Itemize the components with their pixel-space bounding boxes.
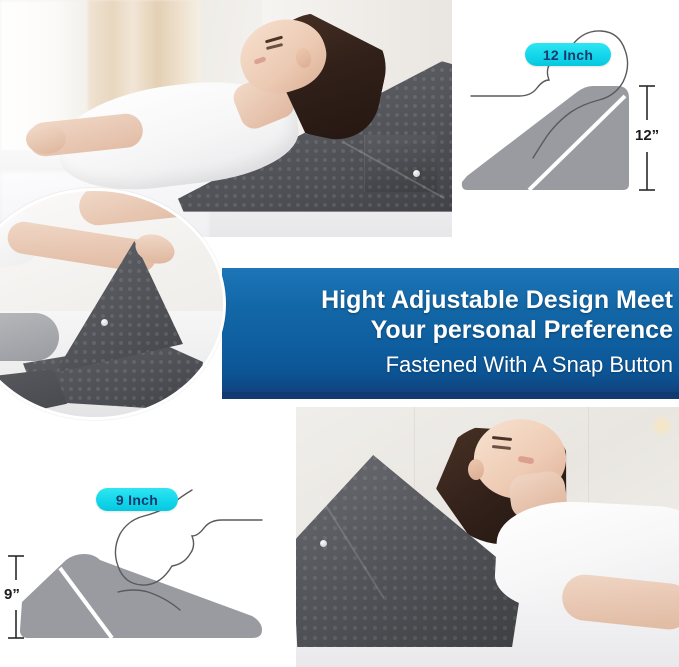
photo-bottom-right-reclining-woman [296,407,679,667]
banner-headline-line2: Your personal Preference [371,315,673,345]
woman-hand [26,124,66,154]
snap-button-icon [320,540,327,547]
wedge-diagram-12-inch-svg [459,0,679,240]
decorative-flower [651,415,673,437]
woman-ear [468,459,484,480]
diagram-panel-12-inch: 12 Inch 12” [459,0,679,240]
wedge-shape-9 [20,554,262,638]
banner-subheadline: Fastened With A Snap Button [386,349,673,381]
banner-bottom-accent-bar [222,392,679,399]
snap-button-icon [413,170,420,177]
wedge-flap [364,135,437,193]
photo-circle-folding-pillow [0,188,226,420]
headline-banner: Hight Adjustable Design Meet Your person… [222,268,679,397]
grey-bolster-pillow [0,313,59,361]
diagram-panel-9-inch: 9 Inch 9” [0,470,292,667]
snap-button-icon [101,319,108,326]
banner-headline-line1: Hight Adjustable Design Meet [321,285,673,315]
dimension-label-9: 9” [4,586,20,603]
dimension-label-12: 12” [635,127,659,144]
badge-12-inch: 12 Inch [525,43,611,66]
infographic-canvas: 12 Inch 12” Hight Adjustable Design Meet… [0,0,679,667]
badge-9-inch: 9 Inch [96,488,178,511]
panel-divider [452,0,460,240]
